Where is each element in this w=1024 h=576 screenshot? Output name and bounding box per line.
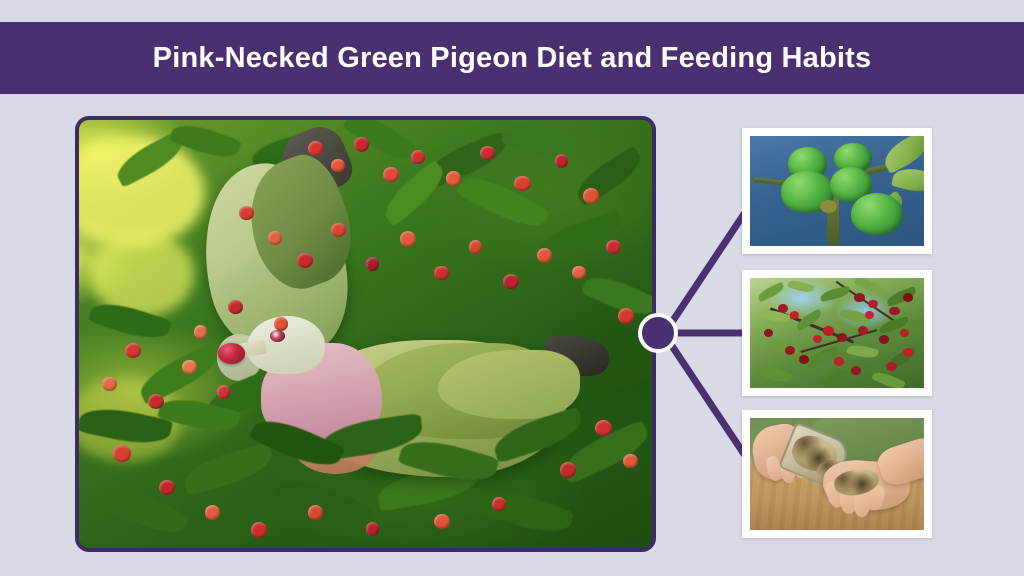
berry [217, 385, 231, 399]
berry [268, 231, 282, 245]
berry [595, 420, 612, 436]
berry [308, 141, 323, 156]
berry [354, 137, 369, 152]
main-photo-scene [79, 120, 652, 548]
berry-in-beak [218, 343, 245, 364]
berry [102, 377, 117, 392]
berry [903, 293, 913, 301]
figs-thumbnail[interactable] [742, 128, 932, 254]
berry [228, 300, 243, 315]
berries-thumbnail[interactable] [742, 270, 932, 396]
berry [480, 146, 495, 161]
figs-thumbnail-image [750, 136, 924, 246]
berry [889, 307, 899, 316]
berry [125, 343, 141, 358]
berry [879, 335, 889, 344]
berry [785, 346, 795, 355]
berry [366, 522, 380, 536]
connector-line-figs [668, 214, 744, 328]
berry [618, 308, 634, 323]
berry [308, 505, 323, 520]
berries-thumbnail-image [750, 278, 924, 388]
berry [790, 311, 799, 319]
berry [572, 266, 586, 280]
connector-line-seeds [668, 340, 744, 454]
fig-bud [820, 200, 837, 213]
berry [331, 223, 346, 238]
berry [903, 348, 913, 356]
berry [113, 445, 130, 461]
diet-hub-node[interactable] [638, 313, 678, 353]
berry [159, 480, 175, 495]
berry [799, 355, 809, 364]
berry [900, 329, 910, 337]
berry [555, 154, 569, 168]
fig [851, 193, 903, 235]
berry [851, 366, 861, 375]
berry [205, 505, 220, 520]
berry [886, 362, 897, 371]
berry [331, 159, 345, 173]
berry [251, 522, 267, 537]
title-band: Pink-Necked Green Pigeon Diet and Feedin… [0, 22, 1024, 94]
berry [366, 257, 380, 271]
berry [297, 253, 313, 268]
berry [865, 311, 874, 319]
page-title: Pink-Necked Green Pigeon Diet and Feedin… [153, 42, 872, 75]
berry [823, 326, 834, 335]
berry [274, 317, 288, 331]
seeds-thumbnail-image [750, 418, 924, 530]
berry [400, 231, 416, 246]
berry [834, 357, 844, 366]
berry [514, 176, 530, 191]
berry [182, 360, 197, 375]
berry [148, 394, 164, 409]
berry [446, 171, 461, 186]
seeds-thumbnail[interactable] [742, 410, 932, 538]
berry [854, 293, 864, 302]
pigeon-main-eye [270, 330, 286, 342]
main-photo [75, 116, 656, 552]
slide-canvas: Pink-Necked Green Pigeon Diet and Feedin… [0, 0, 1024, 576]
berry [469, 240, 483, 254]
berry [434, 266, 449, 281]
berry [411, 150, 425, 164]
